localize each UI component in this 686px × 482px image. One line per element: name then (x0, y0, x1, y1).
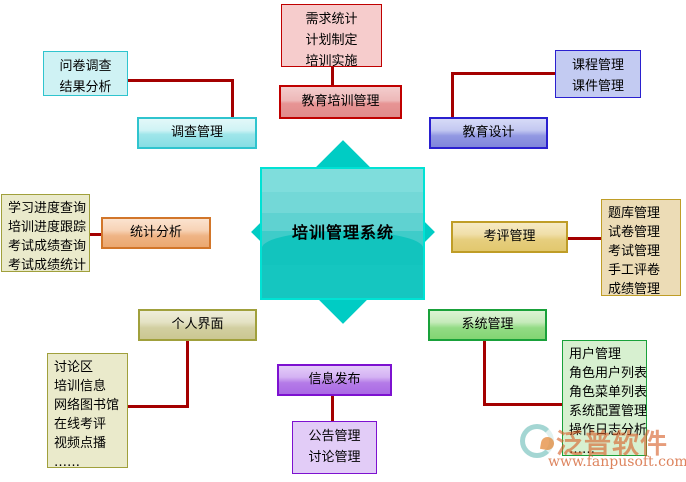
leaf-line: 公告管理 (299, 426, 370, 447)
center-star-node: 培训管理系统 (228, 139, 458, 324)
leaf-line: 计划制定 (288, 30, 375, 51)
leaf-personal: 讨论区 培训信息 网络图书馆 在线考评 视频点播 …… (47, 353, 128, 468)
leaf-line: 考试管理 (608, 242, 674, 261)
connector-system-vertical (483, 341, 486, 405)
main-label: 调查管理 (171, 124, 223, 142)
center-label: 培训管理系统 (228, 219, 458, 243)
leaf-line: 系统配置管理 (569, 402, 640, 421)
leaf-line: 在线考评 (54, 415, 121, 434)
leaf-statistics: 学习进度查询 培训进度跟踪 考试成绩查询 考试成绩统计 (1, 194, 90, 272)
brand-logo-icon (520, 424, 554, 458)
leaf-system: 用户管理 角色用户列表 角色菜单列表 系统配置管理 操作日志分析 …… (562, 340, 647, 456)
main-label: 教育培训管理 (301, 93, 379, 111)
leaf-line: 视频点播 (54, 434, 121, 453)
training-management-system-diagram: 培训管理系统 需求统计 计划制定 培训实施 教育培训管理 问卷调查 结果分析 调… (0, 0, 686, 482)
leaf-line: 角色用户列表 (569, 364, 640, 383)
main-label: 教育设计 (462, 124, 514, 142)
main-label: 个人界面 (171, 316, 223, 334)
leaf-line: 培训进度跟踪 (8, 218, 83, 237)
connector-personal-vertical (186, 341, 189, 407)
main-education-design[interactable]: 教育设计 (429, 117, 548, 149)
leaf-line: 问卷调查 (50, 56, 121, 77)
brand-logo-leaf-icon (540, 436, 555, 451)
main-system[interactable]: 系统管理 (428, 309, 547, 341)
connector-publish-vertical (331, 395, 334, 422)
leaf-line: 讨论管理 (299, 447, 370, 468)
leaf-education-design: 课程管理 课件管理 (555, 50, 641, 98)
leaf-line: 课程管理 (562, 55, 634, 76)
leaf-line: 手工评卷 (608, 261, 674, 280)
leaf-assessment: 题库管理 试卷管理 考试管理 手工评卷 成绩管理 (601, 199, 681, 296)
main-label: 考评管理 (483, 228, 535, 246)
main-label: 信息发布 (308, 371, 360, 389)
connector-personal-horizontal (128, 405, 189, 408)
leaf-line: 角色菜单列表 (569, 383, 640, 402)
main-label: 统计分析 (130, 224, 182, 242)
leaf-line: 考试成绩统计 (8, 256, 83, 275)
main-statistics[interactable]: 统计分析 (101, 217, 211, 249)
connector-education-design-horizontal (451, 72, 555, 75)
leaf-line: 讨论区 (54, 358, 121, 377)
main-assessment[interactable]: 考评管理 (451, 221, 568, 253)
leaf-line: 网络图书馆 (54, 396, 121, 415)
main-personal[interactable]: 个人界面 (138, 309, 257, 341)
leaf-line: 培训实施 (288, 51, 375, 72)
leaf-line: 成绩管理 (608, 280, 674, 299)
main-publish[interactable]: 信息发布 (277, 364, 392, 396)
leaf-line: 用户管理 (569, 345, 640, 364)
leaf-line: 结果分析 (50, 77, 121, 98)
leaf-line: 需求统计 (288, 9, 375, 30)
connector-education-design-vertical (451, 72, 454, 117)
connector-survey-horizontal (128, 79, 234, 82)
leaf-line: 试卷管理 (608, 223, 674, 242)
main-education-training[interactable]: 教育培训管理 (279, 85, 402, 119)
leaf-line: 培训信息 (54, 377, 121, 396)
leaf-line: 题库管理 (608, 204, 674, 223)
leaf-publish: 公告管理 讨论管理 (292, 421, 377, 474)
leaf-line: 学习进度查询 (8, 199, 83, 218)
leaf-line: …… (54, 453, 121, 472)
leaf-line: 操作日志分析 (569, 421, 640, 440)
connector-assessment-horizontal (568, 237, 601, 240)
leaf-line: 课件管理 (562, 76, 634, 97)
connector-survey-vertical (231, 79, 234, 117)
main-survey[interactable]: 调查管理 (137, 117, 257, 149)
leaf-line: …… (569, 440, 640, 459)
leaf-line: 考试成绩查询 (8, 237, 83, 256)
main-label: 系统管理 (461, 316, 513, 334)
leaf-education-training: 需求统计 计划制定 培训实施 (281, 4, 382, 67)
connector-system-horizontal (483, 403, 563, 406)
leaf-survey: 问卷调查 结果分析 (43, 51, 128, 96)
